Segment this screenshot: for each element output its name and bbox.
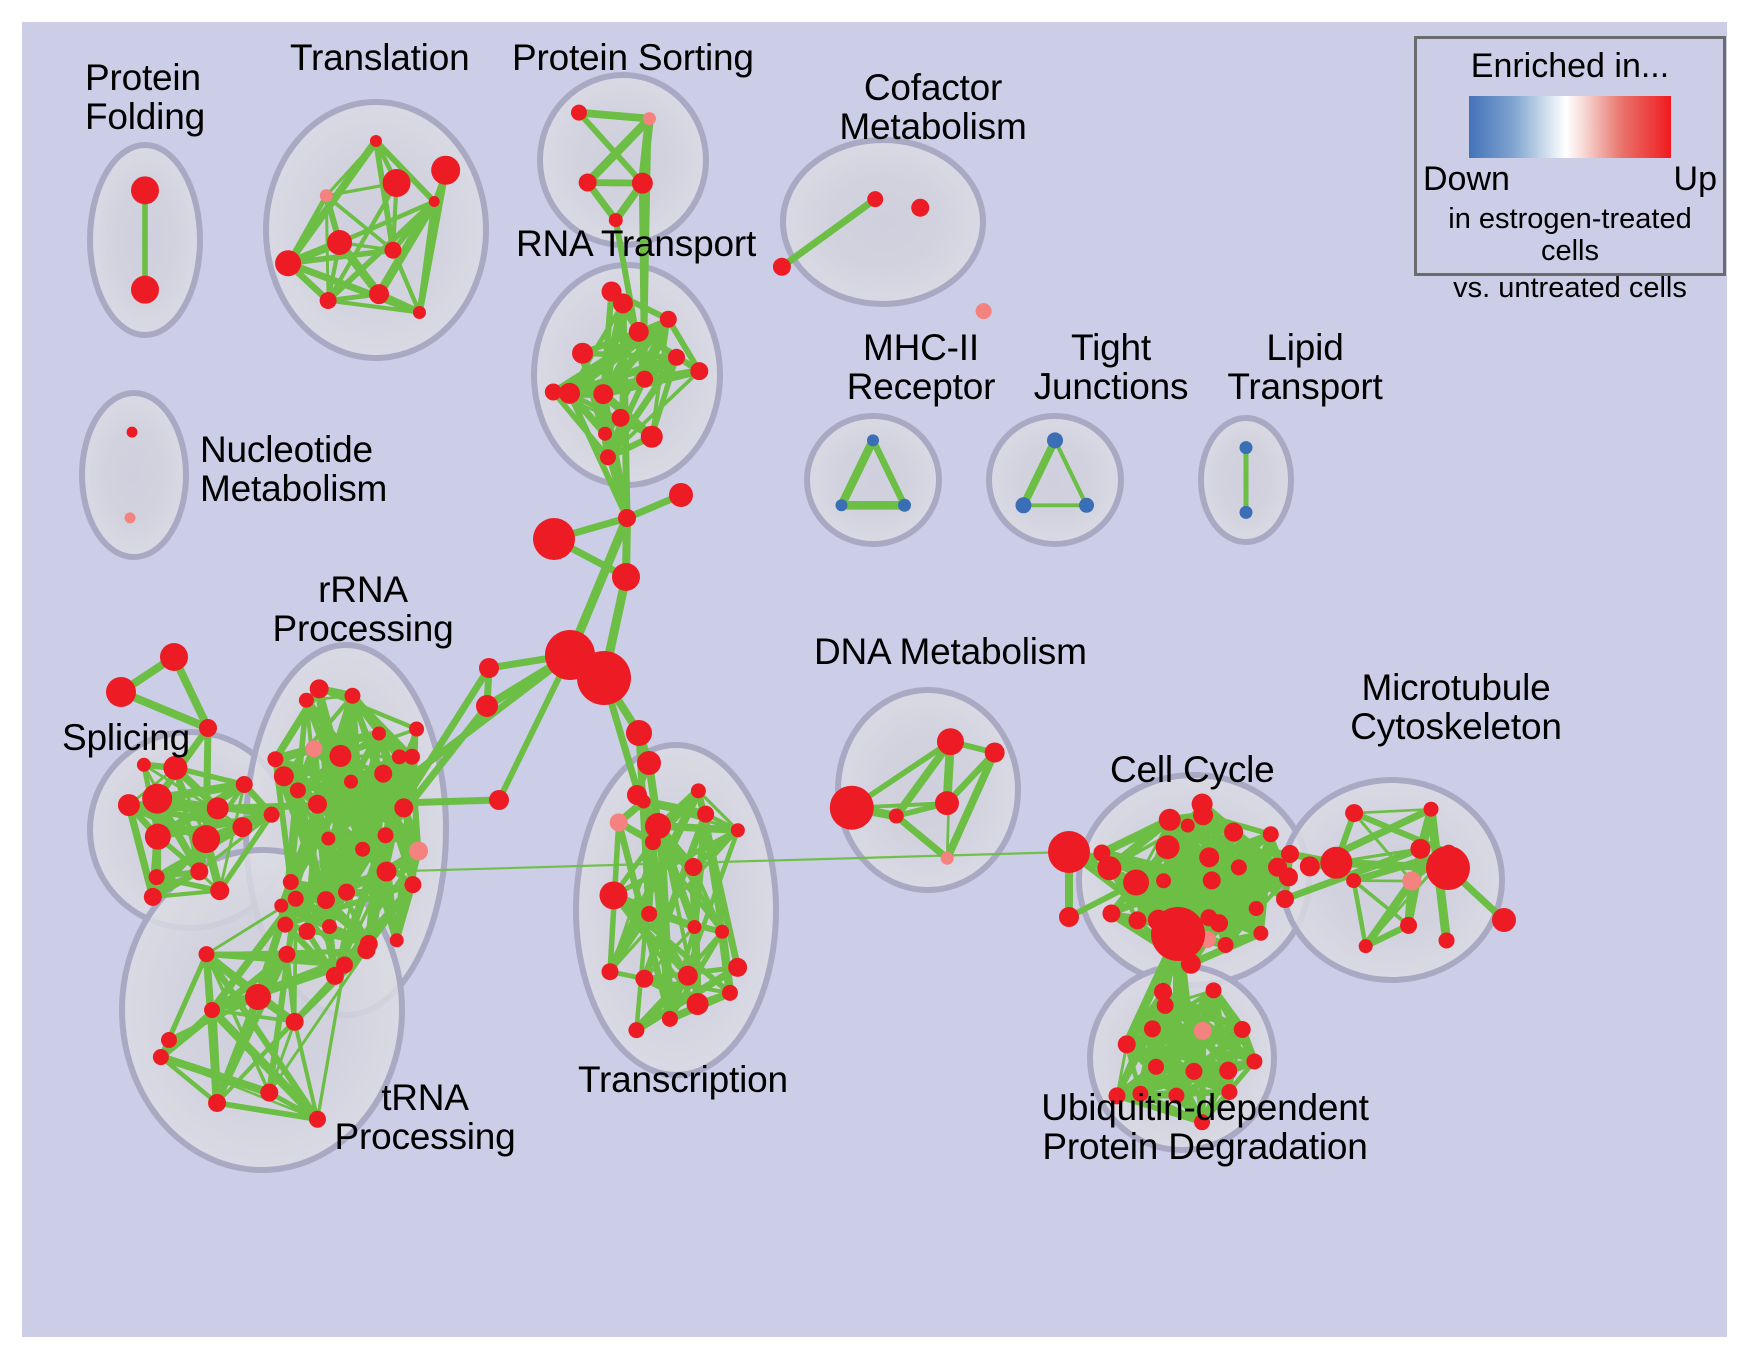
network-node-splicing xyxy=(264,807,280,823)
network-node-dna-metabolism xyxy=(937,728,964,755)
network-node-translation xyxy=(275,250,301,276)
network-node-cell-cycle xyxy=(1181,819,1195,833)
network-node-bridge-sm-a xyxy=(479,658,499,678)
network-node-rrna-processing xyxy=(310,679,329,698)
network-node-bridge-mt-link2 xyxy=(1276,890,1294,908)
cluster-halo-dna-metabolism xyxy=(838,690,1018,890)
network-node-microtubule-cytoskeleton xyxy=(1410,839,1430,859)
network-node-mhc-ii-receptor xyxy=(898,499,911,512)
network-node-rna-transport xyxy=(593,384,613,404)
network-node-splicing xyxy=(207,797,229,819)
network-node-rna-transport xyxy=(636,371,653,388)
network-node-rrna-processing xyxy=(274,899,288,913)
network-node-rna-transport xyxy=(660,311,677,328)
network-node-nucleotide-metabolism xyxy=(127,427,138,438)
network-node-cell-cycle xyxy=(1263,826,1279,842)
network-node-lipid-transport xyxy=(1240,506,1253,519)
network-node-cofactor-metabolism xyxy=(773,258,791,276)
network-node-ubiquitin-degradation xyxy=(1206,982,1222,998)
network-node-transcription xyxy=(691,783,706,798)
network-node-trna-processing xyxy=(357,941,375,959)
network-node-ubiquitin-degradation xyxy=(1118,1035,1136,1053)
network-node-rna-transport xyxy=(641,426,663,448)
network-node-rrna-processing xyxy=(277,917,293,933)
network-node-transcription xyxy=(635,970,653,988)
network-node-translation xyxy=(384,242,401,259)
network-node-trna-processing xyxy=(278,946,295,963)
network-node-microtubule-cytoskeleton xyxy=(1345,804,1363,822)
network-node-transcription xyxy=(715,925,729,939)
network-node-microtubule-cytoskeleton xyxy=(1400,917,1417,934)
network-node-rrna-processing xyxy=(355,842,370,857)
network-node-rrna-processing xyxy=(322,919,337,934)
network-node-rna-transport xyxy=(598,427,612,441)
network-node-rrna-processing xyxy=(290,782,306,798)
network-node-protein-sorting xyxy=(579,174,597,192)
network-node-bridge-right-stub xyxy=(669,483,693,507)
network-node-translation xyxy=(413,306,426,319)
network-node-protein-folding xyxy=(131,176,159,204)
network-node-rrna-processing xyxy=(409,722,424,737)
network-node-trna-processing xyxy=(204,1002,220,1018)
network-node-bridge-t4 xyxy=(645,813,671,839)
network-node-cell-cycle xyxy=(1249,901,1264,916)
network-node-splicing xyxy=(236,776,253,793)
network-node-cofactor-metabolism xyxy=(976,303,992,319)
network-node-rrna-processing xyxy=(404,749,420,765)
network-node-dna-metabolism xyxy=(889,809,904,824)
network-node-bridge-cc-left xyxy=(1048,831,1090,873)
network-node-protein-sorting xyxy=(571,105,587,121)
network-node-microtubule-cytoskeleton xyxy=(1320,847,1352,879)
network-node-transcription xyxy=(687,920,701,934)
network-node-rna-transport xyxy=(559,383,580,404)
network-node-cell-cycle xyxy=(1156,873,1171,888)
network-node-microtubule-cytoskeleton xyxy=(1402,872,1421,891)
network-node-trna-processing xyxy=(336,956,353,973)
network-node-rrna-processing xyxy=(372,727,386,741)
cluster-halo-transcription xyxy=(576,745,776,1075)
network-node-translation xyxy=(431,156,460,185)
network-node-ubiquitin-degradation xyxy=(1219,1062,1237,1080)
network-node-rna-transport xyxy=(572,343,593,364)
network-node-cell-cycle xyxy=(1231,859,1247,875)
network-node-splicing xyxy=(118,794,140,816)
network-node-splicing xyxy=(163,756,187,780)
network-node-rrna-processing xyxy=(409,842,428,861)
network-node-rrna-processing xyxy=(283,874,299,890)
network-node-mhc-ii-receptor xyxy=(835,499,847,511)
legend-subtitle-line1: in estrogen-treated cells xyxy=(1417,203,1723,268)
color-legend: Enriched in... Down Up in estrogen-treat… xyxy=(1414,36,1726,276)
network-node-transcription xyxy=(684,858,702,876)
network-node-transcription xyxy=(697,806,714,823)
cluster-halo-nucleotide-metabolism xyxy=(82,393,186,557)
network-node-trna-processing xyxy=(260,1084,278,1102)
network-node-ubiquitin-degradation xyxy=(1194,1022,1212,1040)
network-node-dna-metabolism xyxy=(830,786,874,830)
network-edge xyxy=(206,728,208,839)
network-node-bridge-sm-b xyxy=(476,695,498,717)
network-node-rna-transport xyxy=(600,449,616,465)
network-node-bridge-spl-link xyxy=(489,790,509,810)
network-node-bridge-spl-out1 xyxy=(160,643,188,671)
network-node-splicing xyxy=(149,869,165,885)
network-node-bridge-trna-stem xyxy=(245,984,271,1010)
network-node-rna-transport xyxy=(629,322,649,342)
network-node-rrna-processing xyxy=(274,766,294,786)
network-node-bridge-spl-out3 xyxy=(199,719,217,737)
network-node-translation xyxy=(383,169,411,197)
network-node-trna-processing xyxy=(208,1094,226,1112)
network-node-splicing xyxy=(210,881,229,900)
network-node-splicing xyxy=(232,817,252,837)
network-node-transcription xyxy=(628,1022,644,1038)
network-node-transcription xyxy=(662,1011,678,1027)
network-node-rrna-processing xyxy=(329,745,351,767)
network-node-cell-cycle xyxy=(1279,867,1298,886)
network-node-cell-cycle xyxy=(1102,905,1120,923)
network-node-ubiquitin-degradation xyxy=(1168,1088,1184,1104)
network-node-protein-sorting xyxy=(643,112,656,125)
network-node-rrna-processing xyxy=(308,795,327,814)
network-node-dna-metabolism xyxy=(935,791,959,815)
network-node-rrna-processing xyxy=(404,876,421,893)
network-node-trna-processing xyxy=(288,891,304,907)
network-node-bridge-t3 xyxy=(627,785,647,805)
network-node-transcription xyxy=(600,881,628,909)
network-node-cell-cycle xyxy=(1218,937,1234,953)
network-node-mhc-ii-receptor xyxy=(867,434,879,446)
network-node-tight-junctions xyxy=(1079,498,1094,513)
network-node-cell-cycle xyxy=(1093,844,1110,861)
network-node-protein-folding xyxy=(131,276,159,304)
network-node-rna-transport xyxy=(690,362,708,380)
network-node-rrna-processing xyxy=(344,688,360,704)
network-node-rna-transport xyxy=(602,282,622,302)
network-node-microtubule-cytoskeleton xyxy=(1359,939,1373,953)
legend-gradient-bar xyxy=(1469,96,1671,158)
network-node-rrna-processing xyxy=(299,923,316,940)
network-node-rna-transport xyxy=(612,409,630,427)
network-node-cell-cycle xyxy=(1159,809,1181,831)
network-node-rna-transport xyxy=(668,349,685,366)
network-node-microtubule-cytoskeleton xyxy=(1439,932,1455,948)
network-node-tight-junctions xyxy=(1047,432,1063,448)
network-node-transcription xyxy=(602,963,619,980)
network-node-cell-cycle xyxy=(1224,823,1243,842)
network-node-ubiquitin-degradation xyxy=(1221,1084,1237,1100)
network-node-trna-processing xyxy=(286,1013,304,1031)
network-node-translation xyxy=(320,292,337,309)
network-node-cell-cycle xyxy=(1210,914,1228,932)
network-node-trna-processing xyxy=(153,1049,169,1065)
legend-low-label: Down xyxy=(1423,160,1510,199)
network-node-bridge-big-left xyxy=(533,518,575,560)
network-node-cell-cycle xyxy=(1192,794,1213,815)
network-node-bridge-mt-link xyxy=(1281,845,1299,863)
network-node-rrna-processing xyxy=(321,832,335,846)
legend-high-label: Up xyxy=(1674,160,1717,199)
network-node-bridge-mt-right xyxy=(1426,846,1470,890)
network-node-microtubule-cytoskeleton xyxy=(1346,873,1361,888)
network-node-rrna-processing xyxy=(317,891,335,909)
network-node-cofactor-metabolism xyxy=(867,191,883,207)
network-node-lipid-transport xyxy=(1240,441,1253,454)
network-node-ubiquitin-degradation xyxy=(1132,1086,1148,1102)
network-node-transcription xyxy=(678,966,698,986)
network-node-rna-transport xyxy=(545,384,562,401)
legend-title: Enriched in... xyxy=(1417,47,1723,86)
network-node-tight-junctions xyxy=(1015,497,1031,513)
network-node-transcription xyxy=(641,906,657,922)
network-node-bridge-hub-ub xyxy=(1151,907,1205,961)
network-node-cell-cycle xyxy=(1203,871,1221,889)
network-node-transcription xyxy=(722,985,738,1001)
network-node-rrna-processing xyxy=(390,933,404,947)
network-node-cell-cycle xyxy=(1199,847,1219,867)
network-node-microtubule-cytoskeleton xyxy=(1424,802,1439,817)
legend-subtitle-line2: vs. untreated cells xyxy=(1417,272,1723,304)
network-node-ubiquitin-degradation xyxy=(1108,1087,1125,1104)
network-node-rrna-processing xyxy=(305,740,322,757)
network-node-ubiquitin-degradation xyxy=(1185,1063,1202,1080)
network-node-splicing xyxy=(192,825,220,853)
network-node-cell-cycle xyxy=(1128,911,1146,929)
network-node-trna-processing xyxy=(309,1111,326,1128)
cluster-halo-cofactor-metabolism xyxy=(783,140,983,304)
network-node-rrna-processing xyxy=(299,693,314,708)
network-node-microtubule-cytoskeleton xyxy=(1300,856,1320,876)
network-node-ubiquitin-degradation xyxy=(1194,1114,1210,1130)
network-node-splicing xyxy=(190,862,208,880)
network-node-protein-sorting xyxy=(609,213,623,227)
network-node-trna-processing xyxy=(199,946,215,962)
network-node-dna-metabolism xyxy=(985,743,1005,763)
network-node-rrna-processing xyxy=(338,884,355,901)
network-node-ubiquitin-degradation xyxy=(1148,1059,1164,1075)
network-node-rrna-processing xyxy=(394,798,413,817)
network-node-bridge-core-b xyxy=(577,651,631,705)
network-node-bridge-mt-far xyxy=(1492,908,1516,932)
network-node-transcription xyxy=(731,823,745,837)
network-node-splicing xyxy=(137,758,151,772)
network-node-bridge-trna-out xyxy=(161,1032,177,1048)
network-node-splicing xyxy=(145,824,171,850)
network-node-nucleotide-metabolism xyxy=(125,512,136,523)
network-node-bridge-cc-low xyxy=(1059,907,1079,927)
network-node-cell-cycle xyxy=(1123,870,1149,896)
network-node-ubiquitin-degradation xyxy=(1144,1020,1161,1037)
network-node-translation xyxy=(429,196,440,207)
network-node-ubiquitin-degradation xyxy=(1154,983,1172,1001)
network-node-bridge-mid xyxy=(612,563,640,591)
network-node-rrna-processing xyxy=(377,862,397,882)
network-node-protein-sorting xyxy=(632,173,653,194)
network-node-bridge-spl-out2 xyxy=(106,677,136,707)
network-node-splicing xyxy=(144,888,162,906)
network-node-translation xyxy=(369,284,389,304)
network-node-transcription xyxy=(610,813,628,831)
network-node-rrna-processing xyxy=(344,775,358,789)
enrichment-network-figure: Protein FoldingTranslationProtein Sortin… xyxy=(0,0,1750,1360)
network-node-bridge-t2 xyxy=(637,751,661,775)
network-node-rrna-processing xyxy=(374,765,392,783)
network-node-translation xyxy=(370,135,382,147)
network-node-rrna-processing xyxy=(378,827,394,843)
network-node-splicing xyxy=(142,784,172,814)
network-node-translation xyxy=(327,230,352,255)
network-node-cell-cycle xyxy=(1253,926,1268,941)
network-node-transcription xyxy=(687,993,709,1015)
network-node-translation xyxy=(320,189,333,202)
network-node-dna-metabolism xyxy=(941,852,954,865)
network-node-ubiquitin-degradation xyxy=(1246,1053,1262,1069)
network-node-rrna-processing xyxy=(267,751,283,767)
network-node-ubiquitin-degradation xyxy=(1234,1021,1251,1038)
network-node-bridge-t1 xyxy=(626,720,652,746)
network-node-cofactor-metabolism xyxy=(911,199,929,217)
network-node-transcription xyxy=(728,958,747,977)
network-node-cell-cycle xyxy=(1156,835,1180,859)
network-node-bridge-rt-hub xyxy=(618,509,636,527)
